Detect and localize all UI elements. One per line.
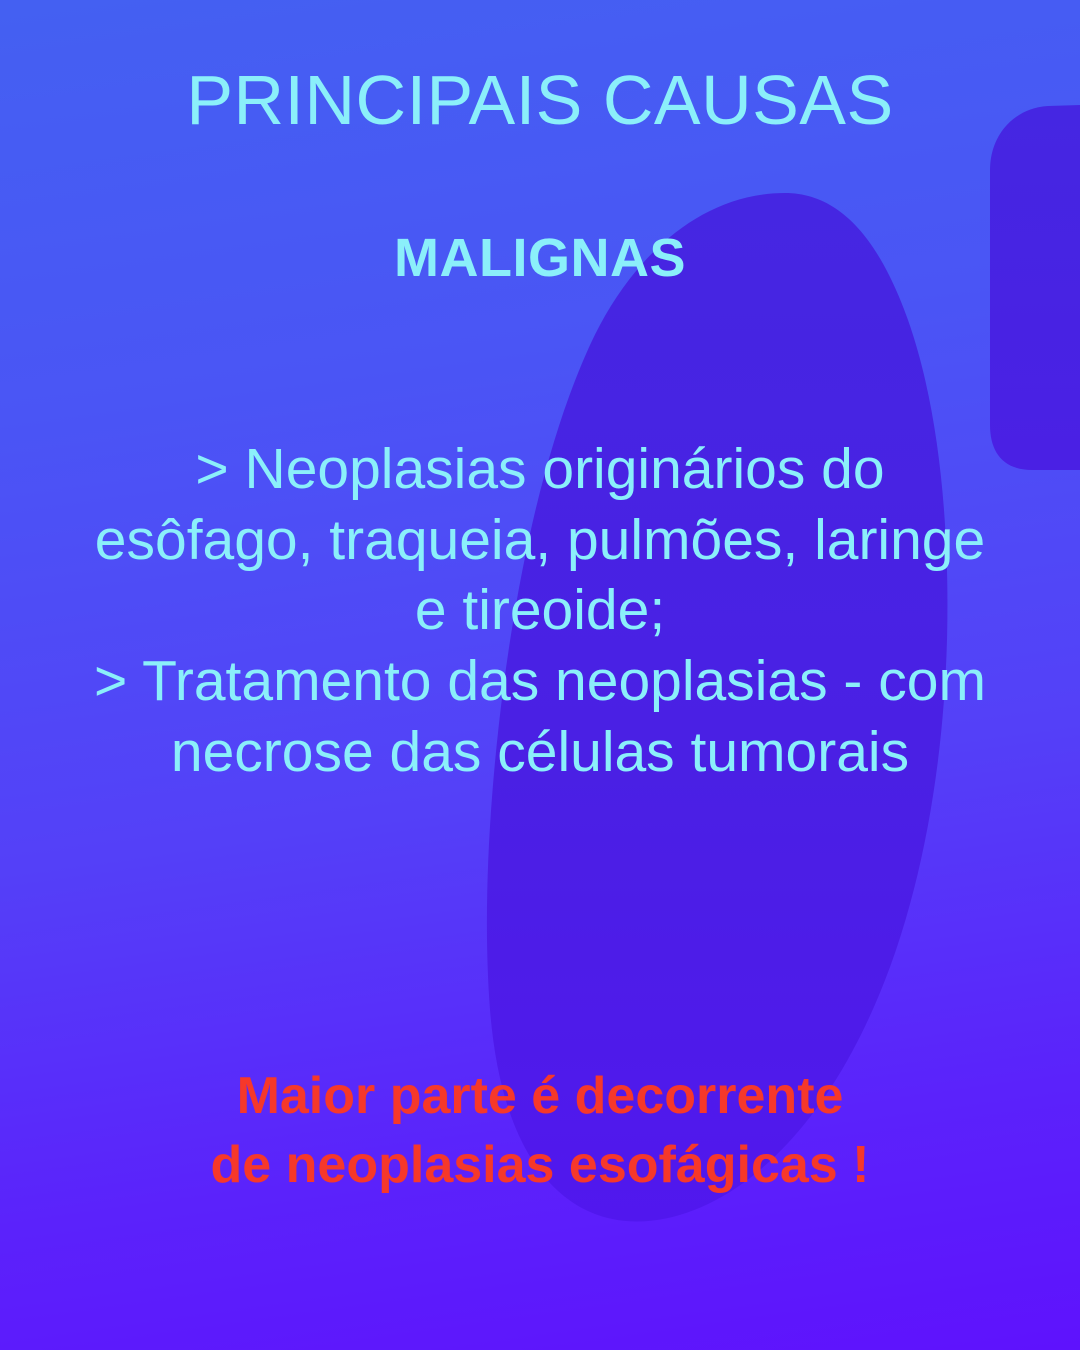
body-line-5: necrose das células tumorais bbox=[24, 717, 1056, 788]
page-subtitle: MALIGNAS bbox=[0, 230, 1080, 287]
page-title: PRINCIPAIS CAUSAS bbox=[0, 64, 1080, 138]
body-text-block: > Neoplasias originários do esôfago, tra… bbox=[24, 434, 1056, 787]
body-line-1: > Neoplasias originários do bbox=[24, 434, 1056, 505]
body-line-3: e tireoide; bbox=[24, 575, 1056, 646]
slide-content: PRINCIPAIS CAUSAS MALIGNAS > Neoplasias … bbox=[0, 0, 1080, 1350]
slide-canvas: PRINCIPAIS CAUSAS MALIGNAS > Neoplasias … bbox=[0, 0, 1080, 1350]
footer-line-2: de neoplasias esofágicas ! bbox=[40, 1131, 1040, 1200]
footer-line-1: Maior parte é decorrente bbox=[40, 1062, 1040, 1131]
footer-callout: Maior parte é decorrente de neoplasias e… bbox=[40, 1062, 1040, 1199]
body-line-4: > Tratamento das neoplasias - com bbox=[24, 646, 1056, 717]
body-line-2: esôfago, traqueia, pulmões, laringe bbox=[24, 505, 1056, 576]
